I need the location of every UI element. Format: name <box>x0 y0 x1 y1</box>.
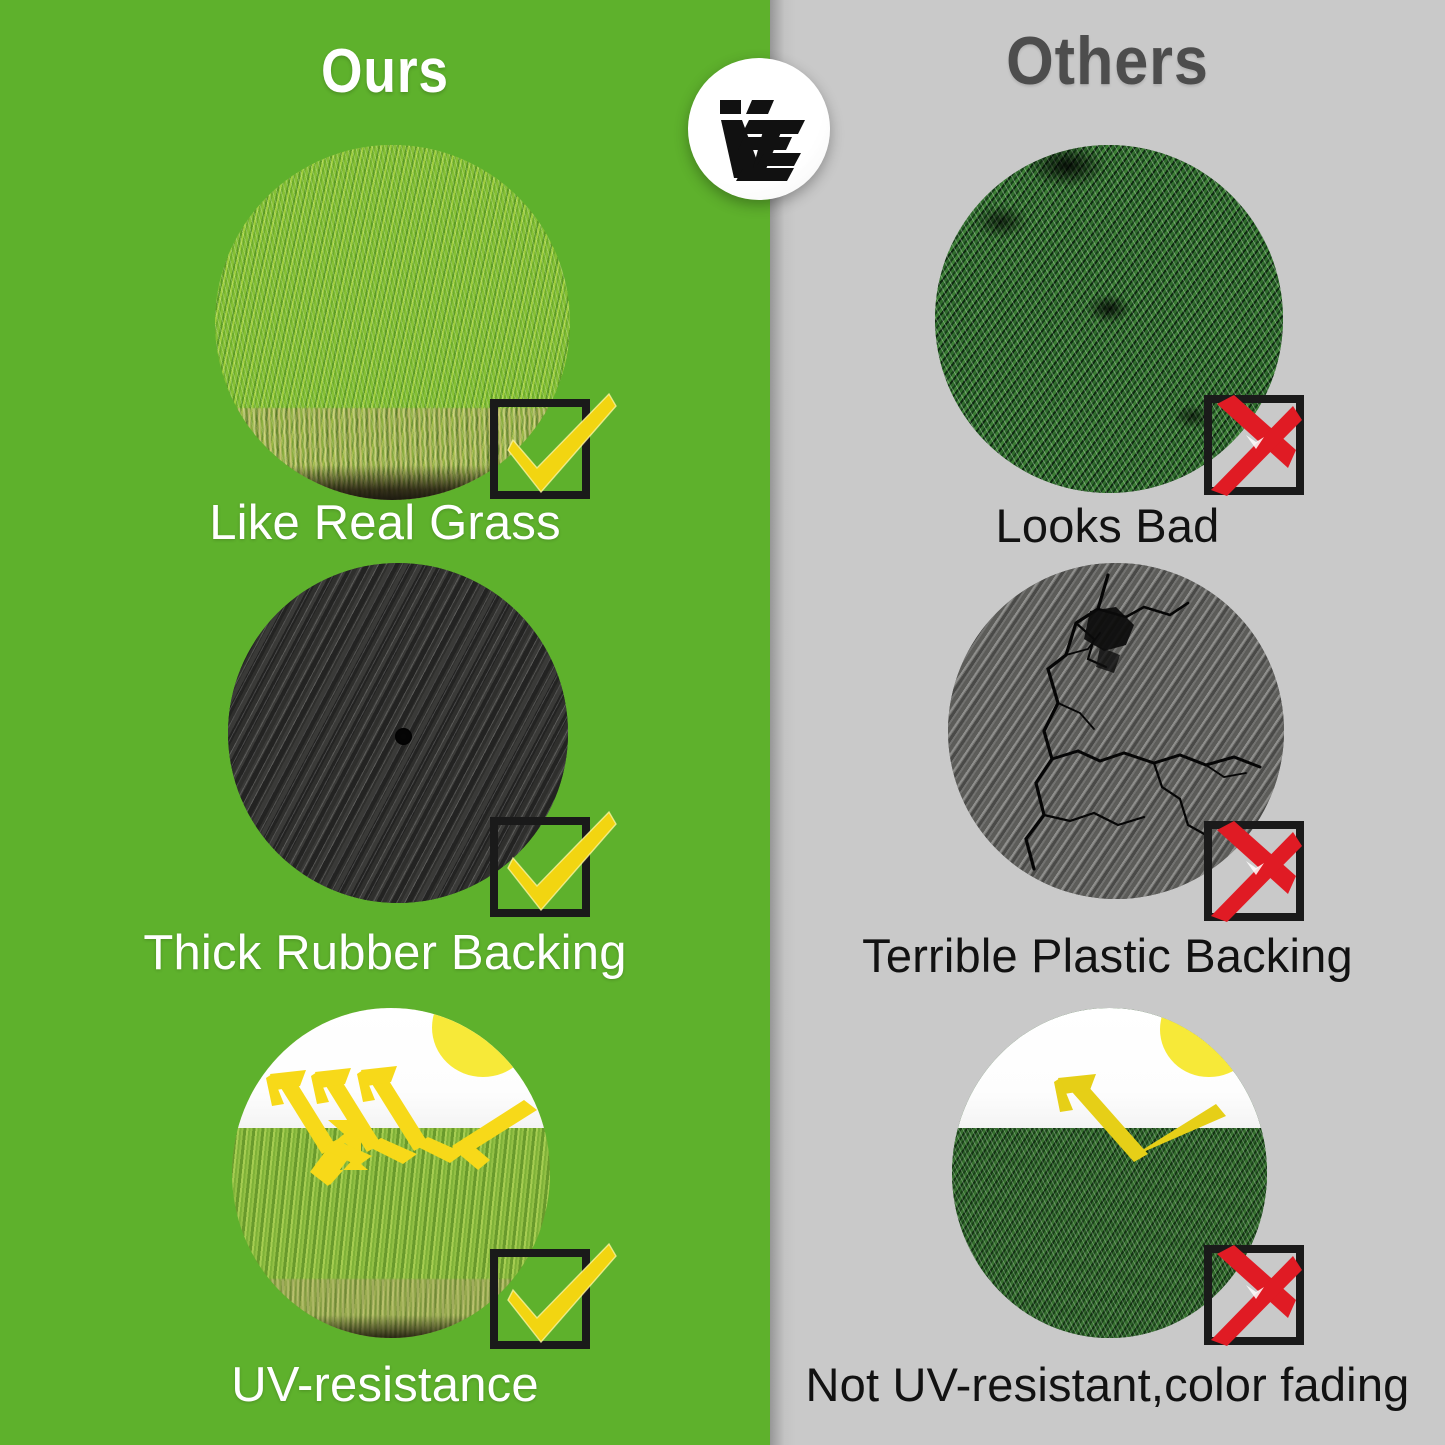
others-caption-2: Terrible Plastic Backing <box>770 928 1445 983</box>
cross-mark-icon <box>1194 1242 1318 1348</box>
ours-caption-1: Like Real Grass <box>0 495 770 551</box>
ours-caption-2: Thick Rubber Backing <box>0 925 770 981</box>
check-mark-icon <box>489 806 619 916</box>
ours-title: Ours <box>54 36 716 107</box>
others-caption-3: Not UV-resistant,color fading <box>770 1357 1445 1412</box>
cross-mark-icon <box>1194 392 1318 498</box>
comparison-infographic: Ours Others <box>0 0 1445 1445</box>
drainage-hole <box>395 728 412 745</box>
cross-mark-icon <box>1194 818 1318 924</box>
check-mark-icon <box>489 1238 619 1348</box>
vs-badge-icon <box>688 58 830 200</box>
others-title: Others <box>804 22 1412 100</box>
ours-caption-3: UV-resistance <box>0 1357 770 1413</box>
others-caption-1: Looks Bad <box>770 498 1445 553</box>
check-mark-icon <box>489 388 619 498</box>
